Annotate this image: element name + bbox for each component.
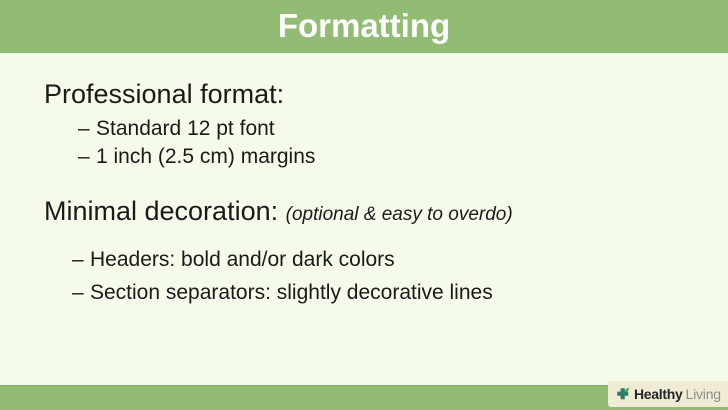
- bullet-list: –Headers: bold and/or dark colors –Secti…: [72, 243, 513, 309]
- bullet-dash-icon: –: [72, 276, 90, 309]
- list-item-label: Standard 12 pt font: [96, 117, 275, 140]
- bullet-list: –Standard 12 pt font –1 inch (2.5 cm) ma…: [78, 115, 315, 171]
- section-heading: Minimal decoration: (optional & easy to …: [44, 195, 513, 231]
- slide-content: Professional format: –Standard 12 pt fon…: [0, 53, 728, 385]
- list-item: –Headers: bold and/or dark colors: [72, 243, 513, 276]
- medical-cross-leaf-icon: [614, 385, 632, 403]
- list-item-label: Section separators: slightly decorative …: [90, 281, 493, 304]
- section-heading: Professional format:: [44, 78, 315, 110]
- slide: Formatting Professional format: –Standar…: [0, 0, 728, 410]
- section-minimal-decoration: Minimal decoration: (optional & easy to …: [44, 195, 513, 309]
- page-title: Formatting: [0, 4, 728, 48]
- bullet-dash-icon: –: [78, 143, 96, 171]
- list-item: –Standard 12 pt font: [78, 115, 315, 143]
- list-item-label: Headers: bold and/or dark colors: [90, 248, 395, 271]
- section-heading-note: (optional & easy to overdo): [286, 204, 513, 225]
- logo-word-healthy: Healthy: [634, 386, 682, 402]
- list-item: –1 inch (2.5 cm) margins: [78, 143, 315, 171]
- bullet-dash-icon: –: [78, 115, 96, 143]
- section-heading-text: Professional format:: [44, 79, 284, 109]
- section-heading-text: Minimal decoration:: [44, 196, 278, 226]
- section-professional-format: Professional format: –Standard 12 pt fon…: [44, 78, 315, 171]
- bullet-dash-icon: –: [72, 243, 90, 276]
- list-item: –Section separators: slightly decorative…: [72, 276, 513, 309]
- list-item-label: 1 inch (2.5 cm) margins: [96, 145, 315, 168]
- brand-logo: Healthy Living: [608, 381, 728, 407]
- logo-word-living: Living: [685, 386, 720, 402]
